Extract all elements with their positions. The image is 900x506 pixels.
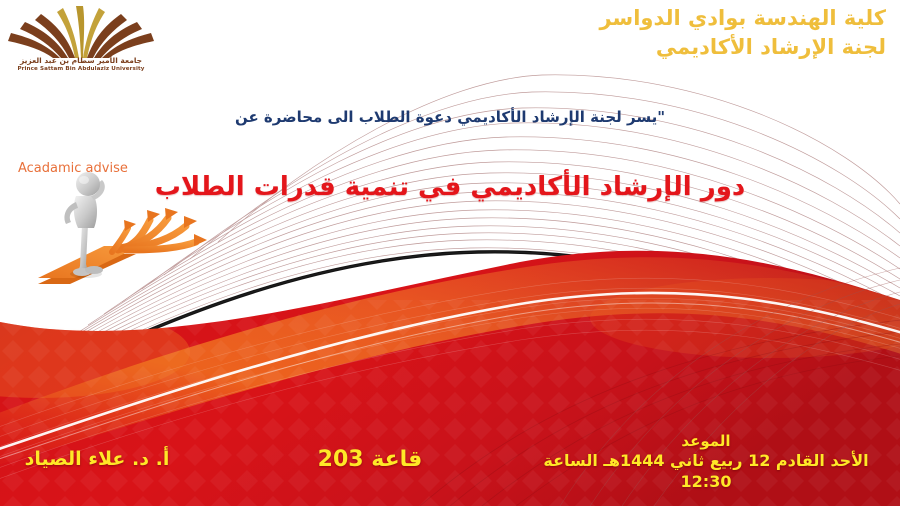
academic-advising-illustration: Acadamic advise: [8, 158, 218, 288]
illus-figure-torso: [74, 196, 97, 228]
wave-orange-blob-right: [590, 278, 900, 358]
illus-figure-head-highlight: [79, 176, 89, 184]
hall-number: قاعة 203: [285, 447, 455, 472]
date-time-block: الموعد الأحد القادم 12 ربيع ثاني 1444هـ …: [520, 432, 892, 492]
speaker-name: أ. د. علاء الصياد: [12, 448, 182, 470]
header-college-line: كلية الهندسة بوادي الدواسر: [426, 4, 886, 33]
header-committee-line: لجنة الإرشاد الأكاديمي: [426, 33, 886, 62]
illustration-label: Acadamic advise: [18, 161, 128, 176]
open-book-emblem-icon: [6, 2, 156, 62]
date-value: الأحد القادم 12 ربيع ثاني 1444هـ الساعة …: [520, 451, 892, 493]
lecture-announcement-poster: جامعة الأمير سطام بن عبد العزيز Prince S…: [0, 0, 900, 506]
branching-arrows-figure-icon: [8, 158, 218, 288]
date-label: الموعد: [520, 432, 892, 451]
wave-orange-blob-left: [0, 306, 190, 398]
logo-arabic-name: جامعة الأمير سطام بن عبد العزيز: [6, 56, 156, 65]
poster-header: كلية الهندسة بوادي الدواسر لجنة الإرشاد …: [426, 4, 886, 62]
illus-figure-foot-right: [85, 266, 103, 274]
university-logo: جامعة الأمير سطام بن عبد العزيز Prince S…: [6, 2, 156, 80]
invitation-text: "يسر لجنة الإرشاد الأكاديمي دعوة الطلاب …: [0, 108, 900, 126]
logo-english-name: Prince Sattam Bin Abdulaziz University: [6, 66, 156, 72]
wave-white-stripe: [0, 293, 900, 452]
